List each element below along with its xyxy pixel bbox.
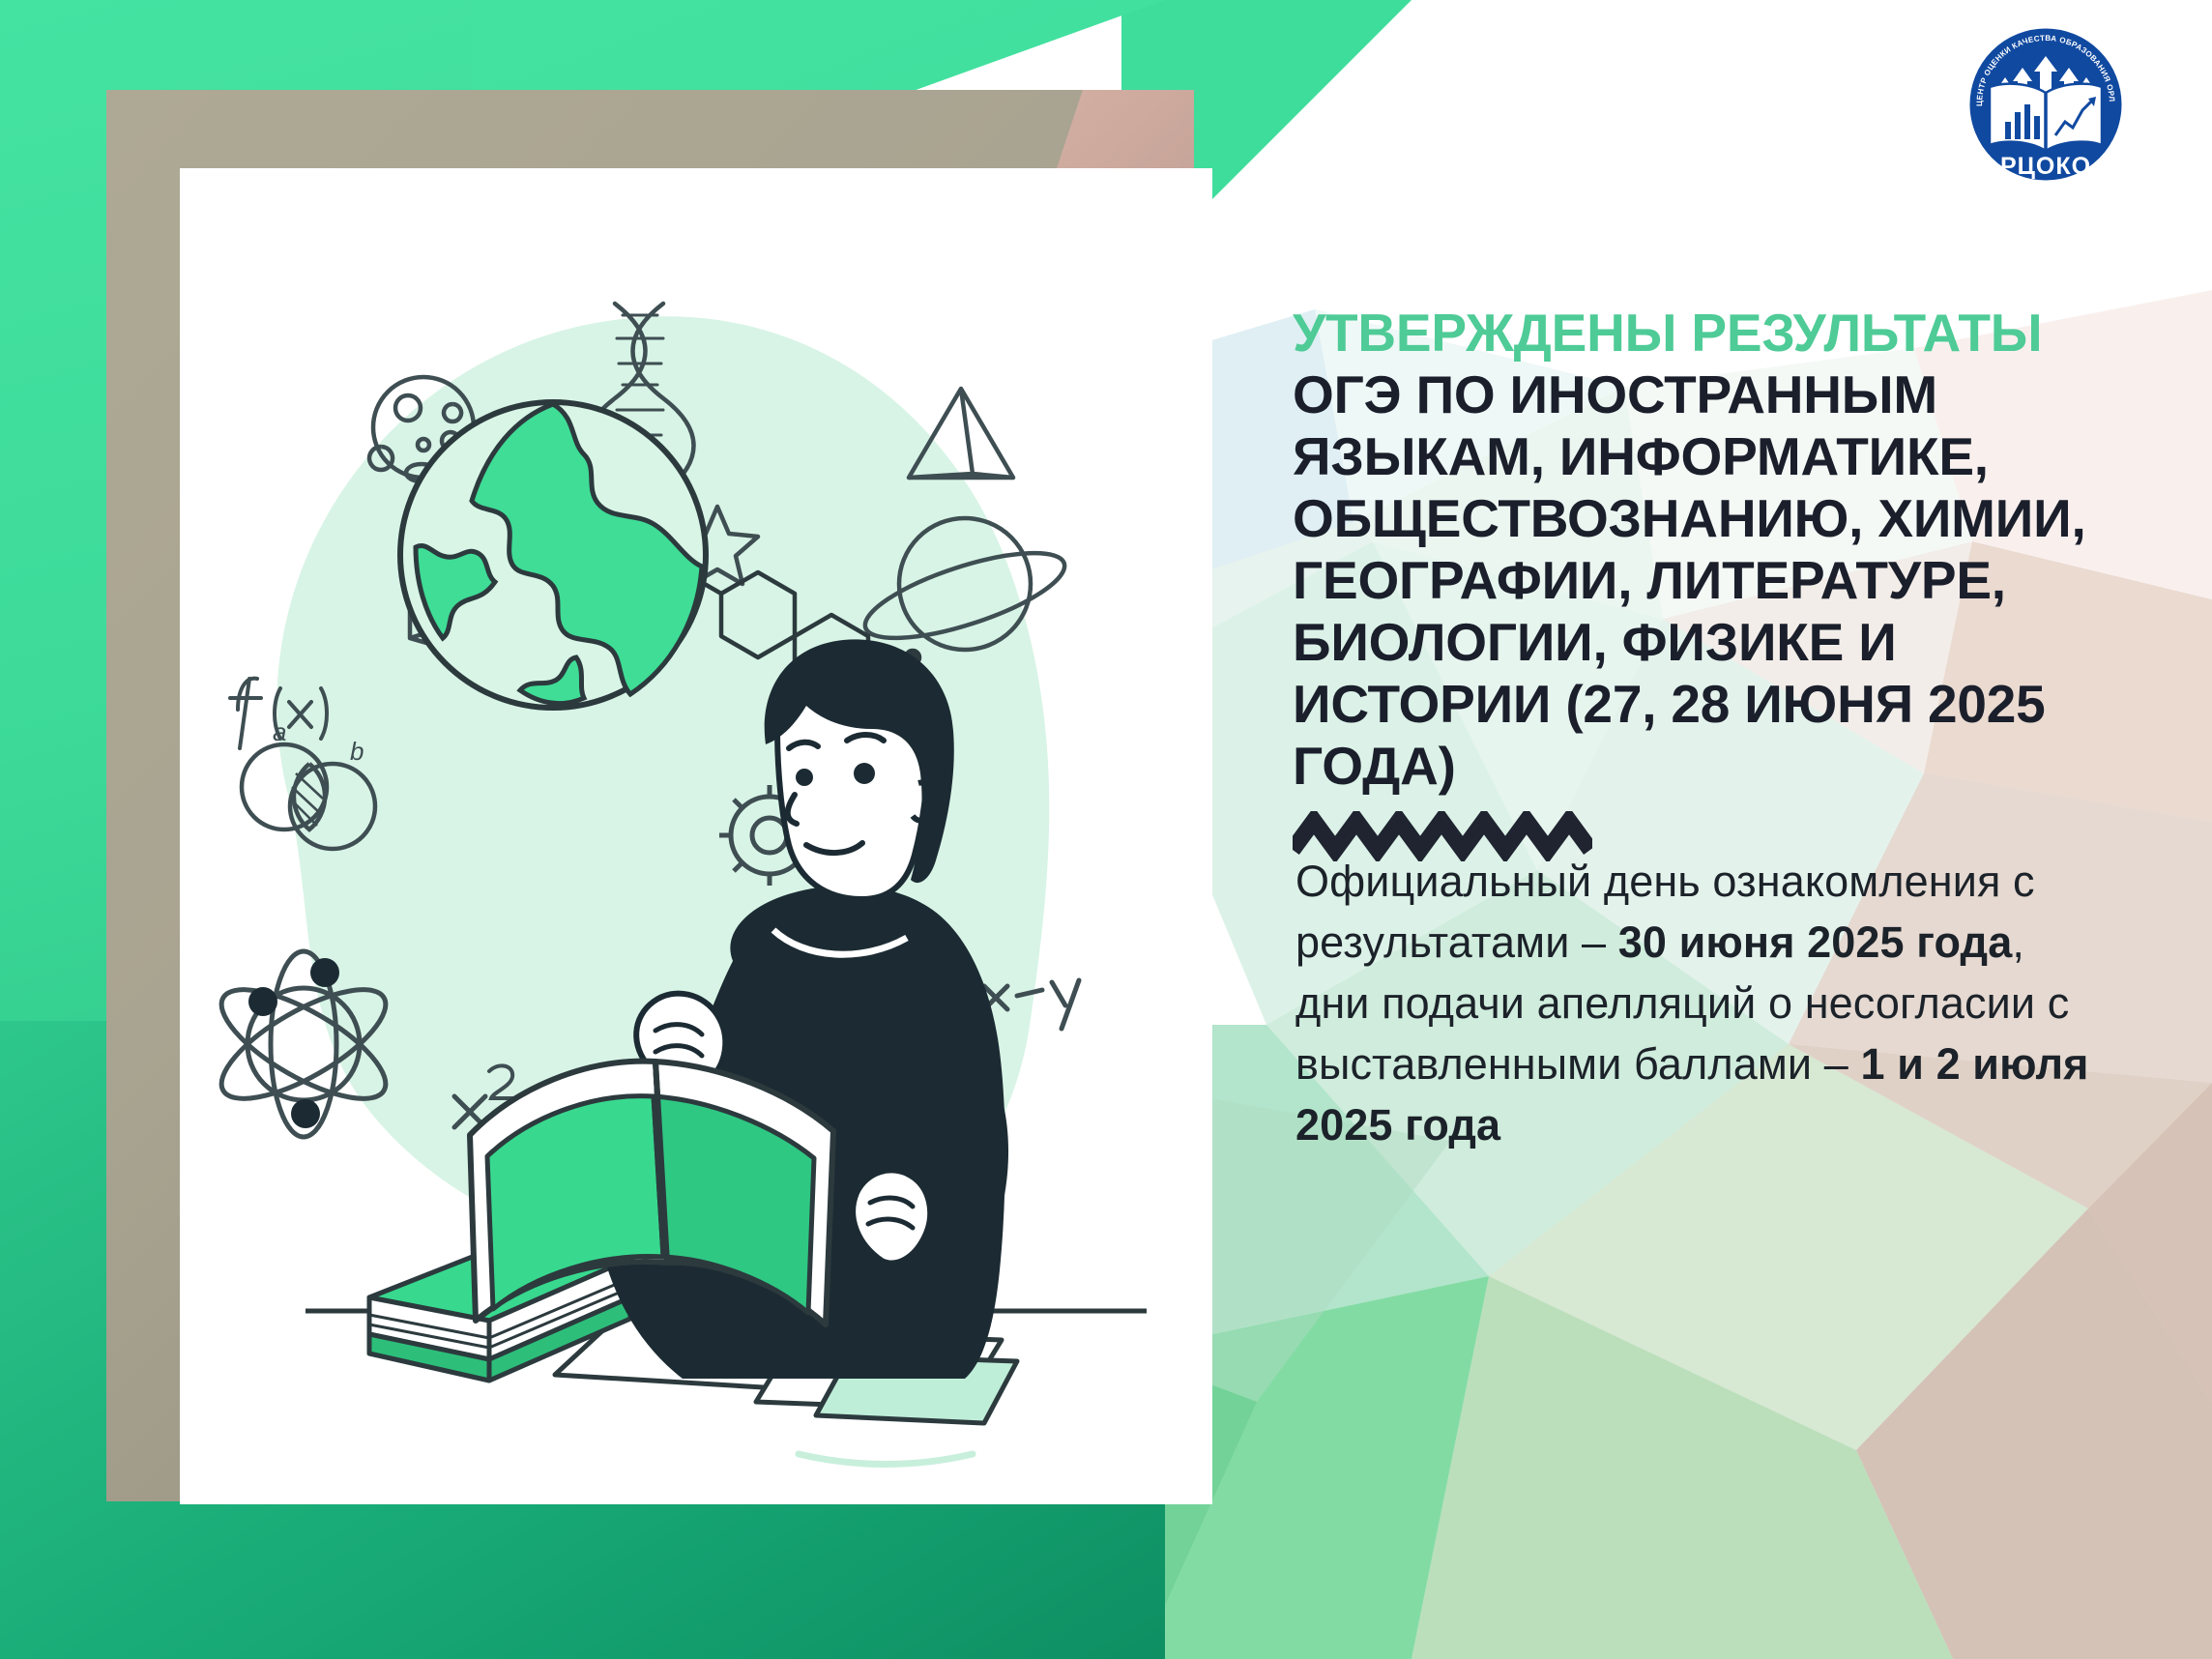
body-block: Официальный день ознакомления с результа… [1295,851,2108,1155]
headline-accent: УТВЕРЖДЕНЫ РЕЗУЛЬТАТЫ [1293,303,2042,363]
page-title: УТВЕРЖДЕНЫ РЕЗУЛЬТАТЫ ОГЭ ПО ИНОСТРАННЫМ… [1293,302,2124,798]
rcoko-open-book [1990,84,2102,151]
headline-rest: ОГЭ ПО ИНОСТРАННЫМ ЯЗЫКАМ, ИНФОРМАТИКЕ, … [1293,364,2086,796]
student-reading-illustration: a b [180,168,1212,1504]
desk-shadow-stroke [799,1454,973,1465]
globe-icon [400,402,706,708]
rcoko-abbreviation: РЦОКО [2000,153,2091,180]
venn-label-b: b [350,737,364,766]
venn-label-a: a [273,717,286,746]
body-paragraph: Официальный день ознакомления с результа… [1295,851,2108,1155]
body-date-1: 30 июня 2025 года [1618,917,2013,967]
rcoko-logo: РЕГИОНАЛЬНЫЙ ЦЕНТР ОЦЕНКИ КАЧЕСТВА ОБРАЗ… [1963,21,2129,188]
headline-block: УТВЕРЖДЕНЫ РЕЗУЛЬТАТЫ ОГЭ ПО ИНОСТРАННЫМ… [1293,302,2124,866]
poster-root: a b [0,0,2212,1659]
